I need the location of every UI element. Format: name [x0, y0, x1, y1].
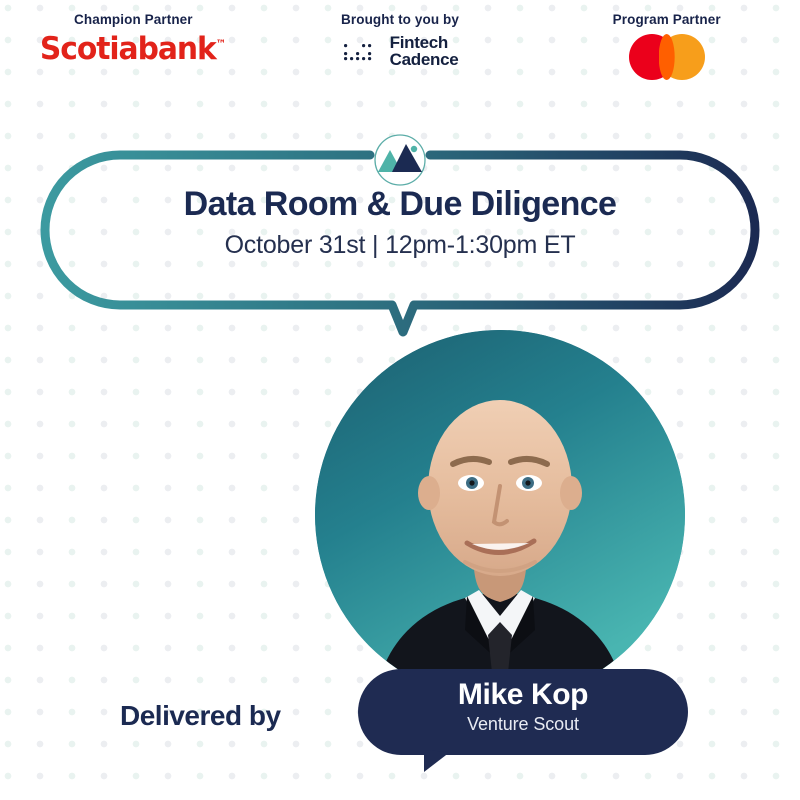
partner-program: Program Partner	[533, 0, 800, 80]
mastercard-overlap-icon	[659, 34, 675, 80]
brought-to-you-by-label: Brought to you by	[341, 12, 459, 27]
fintech-cadence-line1: Fintech	[390, 34, 459, 51]
dot-matrix-icon	[342, 38, 382, 64]
poster-canvas: Champion Partner Scotiabank™ Brought to …	[0, 0, 800, 800]
speaker-name-badge: Mike Kop Venture Scout	[358, 666, 698, 776]
scotiabank-logo: Scotiabank™	[40, 34, 226, 65]
partner-logo-row: Champion Partner Scotiabank™ Brought to …	[0, 0, 800, 98]
mountain-logo-icon	[370, 130, 430, 190]
badge-text-block: Mike Kop Venture Scout	[358, 678, 688, 735]
page-title: Data Room & Due Diligence	[60, 186, 740, 223]
delivered-by-label: Delivered by	[120, 700, 281, 732]
fintech-cadence-wordmark: Fintech Cadence	[390, 34, 459, 69]
mastercard-logo	[613, 34, 721, 80]
partner-host: Brought to you by	[267, 0, 534, 69]
partner-champion: Champion Partner Scotiabank™	[0, 0, 267, 65]
fintech-cadence-line2: Cadence	[390, 51, 459, 68]
speaker-role: Venture Scout	[358, 714, 688, 735]
fintech-cadence-logo: Fintech Cadence	[342, 34, 459, 69]
headshot-illustration	[315, 330, 685, 700]
scotiabank-wordmark: Scotiabank	[40, 31, 216, 67]
event-datetime: October 31st | 12pm-1:30pm ET	[60, 232, 740, 260]
speaker-name: Mike Kop	[358, 678, 688, 713]
title-speech-bubble: Data Room & Due Diligence October 31st |…	[0, 108, 800, 343]
bubble-text-block: Data Room & Due Diligence October 31st |…	[60, 186, 740, 260]
speaker-headshot	[315, 330, 685, 700]
champion-partner-label: Champion Partner	[74, 12, 193, 27]
scotiabank-trademark-icon: ™	[216, 38, 227, 51]
program-partner-label: Program Partner	[613, 12, 721, 27]
